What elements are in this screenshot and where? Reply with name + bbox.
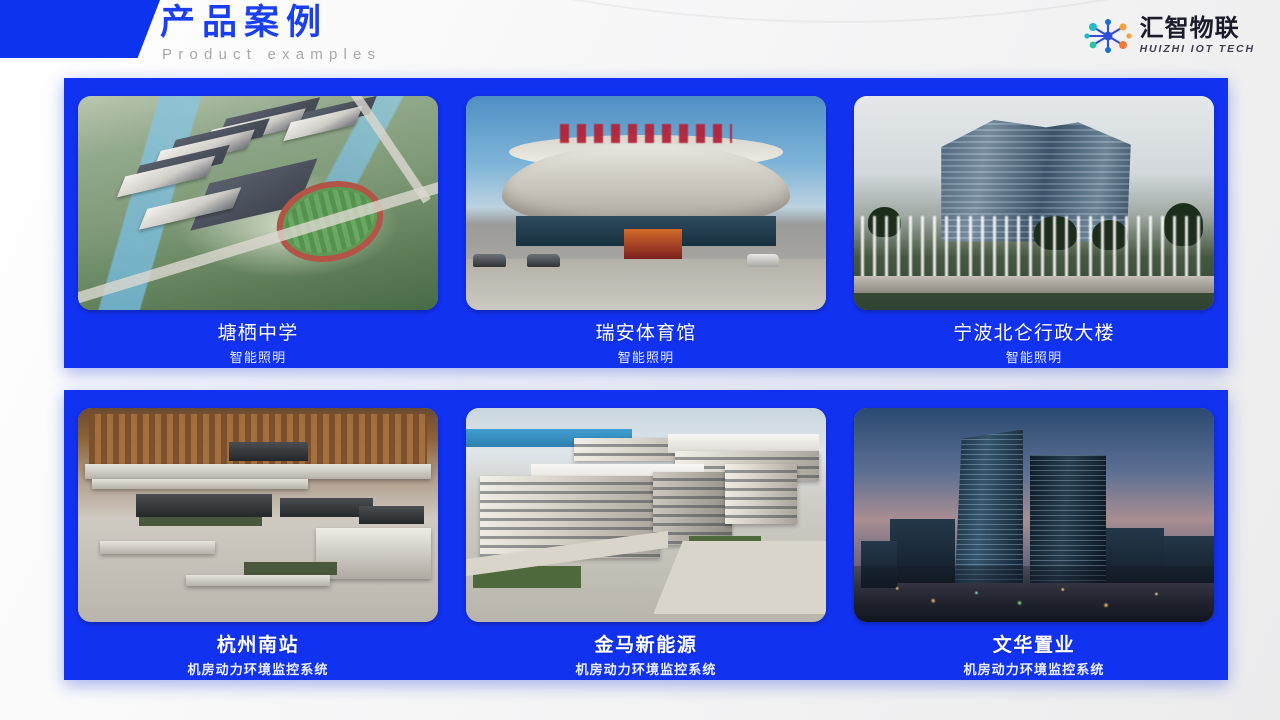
case-title: 金马新能源 (594, 633, 697, 657)
case-panel-row-2: 杭州南站 机房动力环境监控系统 金马新能源 机房动力环境监控系统 (64, 390, 1228, 680)
case-card-ruian-gymnasium[interactable]: 瑞安体育馆 智能照明 (452, 78, 840, 368)
case-card-wenhua-real-estate[interactable]: 文华置业 机房动力环境监控系统 (840, 390, 1228, 680)
case-image-ningbo-beilun-admin-building (854, 96, 1214, 310)
case-title: 宁波北仑行政大楼 (953, 321, 1115, 345)
case-title: 杭州南站 (217, 633, 299, 657)
case-subtitle: 机房动力环境监控系统 (575, 662, 716, 679)
case-image-wenhua-real-estate (854, 408, 1214, 622)
case-card-jinma-new-energy[interactable]: 金马新能源 机房动力环境监控系统 (452, 390, 840, 680)
case-subtitle: 机房动力环境监控系统 (187, 662, 328, 679)
case-title: 瑞安体育馆 (595, 321, 696, 345)
page-title-group: 产品案例 Product examples (160, 2, 381, 65)
case-image-ruian-gymnasium (466, 96, 826, 310)
case-title: 文华置业 (993, 633, 1075, 657)
case-card-hangzhou-south-station[interactable]: 杭州南站 机房动力环境监控系统 (64, 390, 452, 680)
page-title: 产品案例 (160, 2, 381, 44)
case-title: 塘栖中学 (218, 321, 299, 345)
brand-name-cn: 汇智物联 (1140, 15, 1255, 41)
case-card-ningbo-beilun-admin-building[interactable]: 宁波北仑行政大楼 智能照明 (840, 78, 1228, 368)
case-panel-row-1: 塘栖中学 智能照明 瑞安体育馆 智能照明 宁波北仑行政大楼 (64, 78, 1228, 368)
brand-name-en: HUIZHI IOT TECH (1140, 42, 1255, 56)
molecule-network-icon (1083, 18, 1133, 54)
case-subtitle: 智能照明 (230, 350, 286, 367)
case-subtitle: 机房动力环境监控系统 (963, 662, 1104, 679)
case-image-hangzhou-south-station (78, 408, 438, 622)
brand-text: 汇智物联 HUIZHI IOT TECH (1140, 15, 1255, 56)
case-image-jinma-new-energy (466, 408, 826, 622)
header-accent-shape (0, 0, 160, 58)
page-subtitle: Product examples (162, 45, 381, 65)
case-image-tangqi-middle-school (78, 96, 438, 310)
brand-logo: 汇智物联 HUIZHI IOT TECH (1083, 15, 1255, 56)
case-subtitle: 智能照明 (1006, 350, 1062, 367)
case-subtitle: 智能照明 (618, 350, 674, 367)
case-card-tangqi-middle-school[interactable]: 塘栖中学 智能照明 (64, 78, 452, 368)
